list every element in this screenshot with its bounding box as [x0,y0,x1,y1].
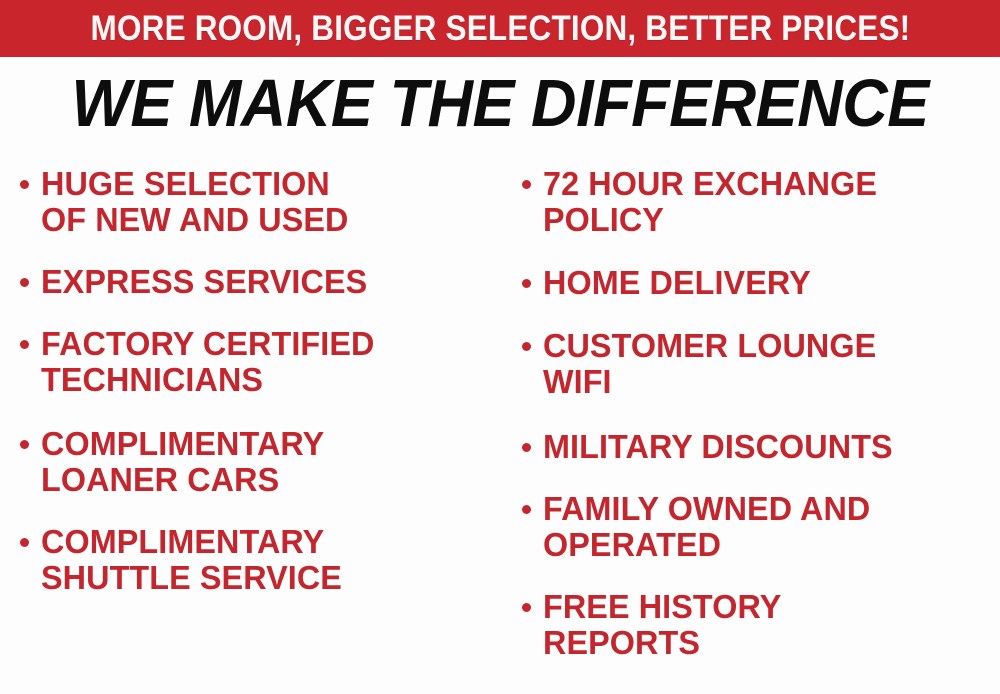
list-item-label: CUSTOMER LOUNGE WIFI [543,328,876,400]
list-item: FAMILY OWNED AND OPERATED [522,491,1000,563]
list-item-label: FACTORY CERTIFIED TECHNICIANS [41,326,374,398]
list-item: EXPRESS SERVICES [20,264,500,300]
list-item: HOME DELIVERY [522,265,1000,301]
bullet-dot-icon [20,278,29,287]
bullet-dot-icon [522,279,531,288]
list-item-label: MILITARY DISCOUNTS [543,429,893,465]
list-item: COMPLIMENTARY LOANER CARS [20,426,500,498]
list-item: COMPLIMENTARY SHUTTLE SERVICE [20,524,500,596]
bullet-dot-icon [522,505,531,514]
bullet-dot-icon [522,180,531,189]
top-banner: MORE ROOM, BIGGER SELECTION, BETTER PRIC… [0,0,1000,57]
bullet-dot-icon [20,440,29,449]
benefits-column-left: HUGE SELECTION OF NEW AND USED EXPRESS S… [0,158,500,694]
bullet-dot-icon [20,180,29,189]
bullet-dot-icon [522,342,531,351]
banner-headline-text: MORE ROOM, BIGGER SELECTION, BETTER PRIC… [90,11,910,46]
bullet-dot-icon [522,443,531,452]
list-item: FACTORY CERTIFIED TECHNICIANS [20,326,500,398]
headline-container: WE MAKE THE DIFFERENCE [0,62,1000,144]
list-item-label: FAMILY OWNED AND OPERATED [543,491,870,563]
list-item: 72 HOUR EXCHANGE POLICY [522,166,1000,238]
list-item-label: 72 HOUR EXCHANGE POLICY [543,166,877,238]
list-item-label: EXPRESS SERVICES [41,264,367,300]
list-item: HUGE SELECTION OF NEW AND USED [20,166,500,238]
list-item-label: COMPLIMENTARY SHUTTLE SERVICE [41,524,342,596]
list-item-label: HUGE SELECTION OF NEW AND USED [41,166,349,238]
benefits-column-right: 72 HOUR EXCHANGE POLICY HOME DELIVERY CU… [500,158,1000,694]
bullet-dot-icon [20,340,29,349]
list-item-label: HOME DELIVERY [543,265,811,301]
list-item: MILITARY DISCOUNTS [522,429,1000,465]
list-item: CUSTOMER LOUNGE WIFI [522,328,1000,400]
list-item: FREE HISTORY REPORTS [522,589,1000,661]
bullet-dot-icon [522,603,531,612]
list-item-label: FREE HISTORY REPORTS [543,589,781,661]
list-item-label: COMPLIMENTARY LOANER CARS [41,426,324,498]
bullet-dot-icon [20,538,29,547]
page-title: WE MAKE THE DIFFERENCE [71,70,928,137]
promotional-poster: MORE ROOM, BIGGER SELECTION, BETTER PRIC… [0,0,1000,694]
benefits-columns: HUGE SELECTION OF NEW AND USED EXPRESS S… [0,158,1000,694]
